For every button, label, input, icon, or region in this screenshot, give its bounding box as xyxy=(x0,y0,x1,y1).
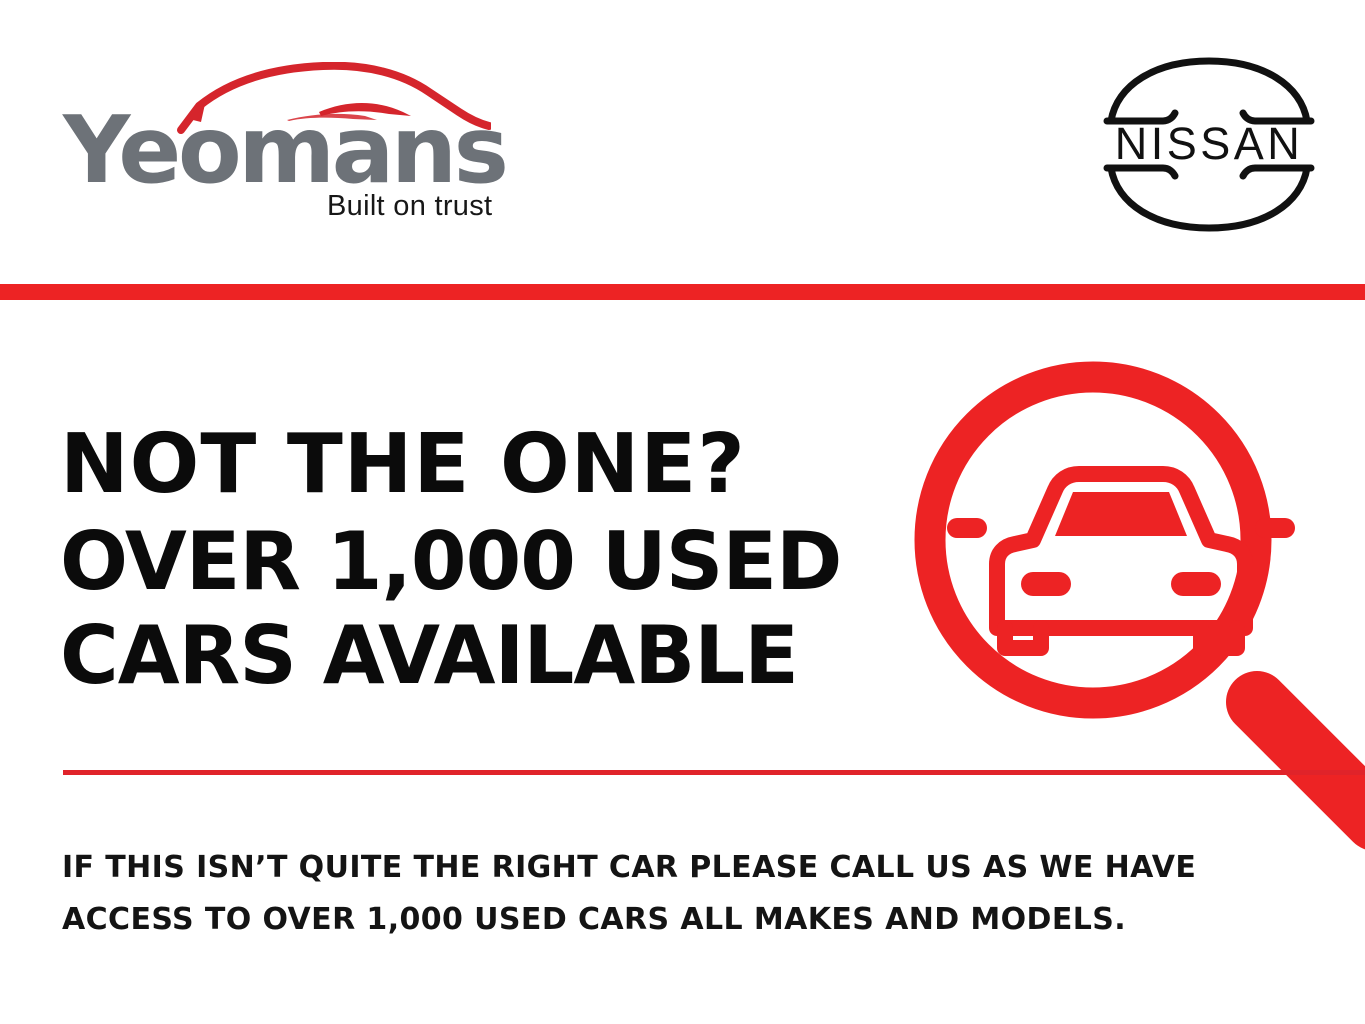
car-front-icon xyxy=(997,474,1245,648)
headline-line-1: NOT THE ONE? xyxy=(60,424,920,506)
car-headlight-right xyxy=(1171,572,1221,596)
banner-header: Yeomans Built on trust NISSAN xyxy=(0,0,1365,286)
car-mirror-right xyxy=(1255,518,1295,538)
car-mirror-left xyxy=(947,518,987,538)
magnifying-glass-car-icon xyxy=(905,350,1365,810)
dealer-tagline: Built on trust xyxy=(327,190,492,223)
promo-banner: Yeomans Built on trust NISSAN xyxy=(0,0,1365,1024)
headline-line-2: OVER 1,000 USED xyxy=(60,522,920,602)
car-headlight-left xyxy=(1021,572,1071,596)
dealer-wordmark: Yeomans xyxy=(63,104,506,197)
body-copy-line-1: IF THIS ISN’T QUITE THE RIGHT CAR PLEASE… xyxy=(62,853,1302,883)
body-copy-block: IF THIS ISN’T QUITE THE RIGHT CAR PLEASE… xyxy=(62,853,1302,935)
nissan-badge-icon: NISSAN xyxy=(1103,57,1315,232)
magnifier-handle xyxy=(1257,702,1365,820)
headline-line-3: CARS AVAILABLE xyxy=(60,616,920,696)
body-copy-divider xyxy=(63,770,1365,775)
dealer-logo: Yeomans Built on trust xyxy=(63,62,493,227)
nissan-wordmark: NISSAN xyxy=(1115,118,1304,169)
header-divider xyxy=(0,284,1365,300)
body-copy-line-2: ACCESS TO OVER 1,000 USED CARS ALL MAKES… xyxy=(62,905,1302,935)
headline-block: NOT THE ONE? OVER 1,000 USED CARS AVAILA… xyxy=(60,424,920,696)
